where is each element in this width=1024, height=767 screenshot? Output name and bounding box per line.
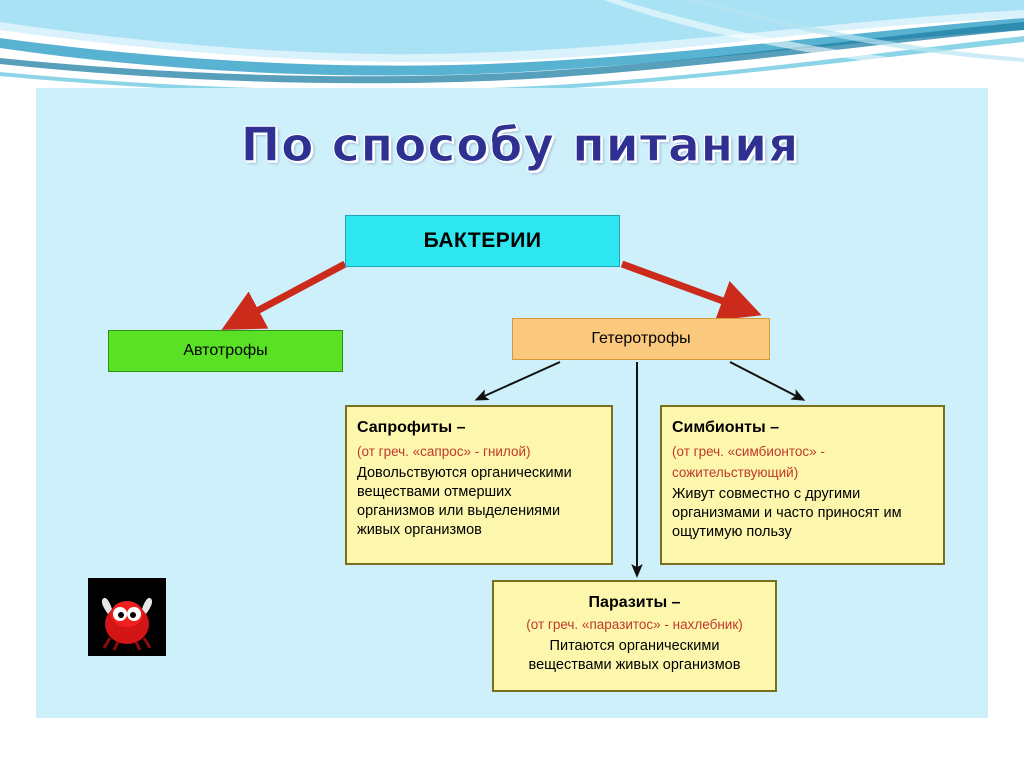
node-symbionts: Симбионты – (от греч. «симбионтос» - сож… xyxy=(660,405,945,565)
arrow-hetero-to-saprophytes xyxy=(480,362,560,398)
node-saprophytes-line-2: веществами отмерших xyxy=(357,483,601,502)
node-symbionts-line-1: Живут совместно с другими xyxy=(672,485,933,504)
node-autotrophs: Автотрофы xyxy=(108,330,343,372)
node-symbionts-greek: (от греч. «симбионтос» - xyxy=(672,443,933,461)
node-saprophytes: Сапрофиты – (от греч. «сапрос» - гнилой)… xyxy=(345,405,613,565)
node-saprophytes-line-1: Довольствуются органическими xyxy=(357,464,601,483)
node-symbionts-title: Симбионты – xyxy=(672,417,933,438)
node-saprophytes-greek: (от греч. «сапрос» - гнилой) xyxy=(357,443,601,461)
slide: По способу питания БАКТЕРИИ Автотрофы Ге… xyxy=(0,0,1024,767)
node-bakterii-label: БАКТЕРИИ xyxy=(424,229,542,253)
node-autotrophs-label: Автотрофы xyxy=(183,342,267,360)
node-symbionts-greek-2: сожительствующий) xyxy=(672,464,933,482)
node-heterotrophs-label: Гетеротрофы xyxy=(591,330,690,348)
arrow-hetero-to-symbionts xyxy=(730,362,800,398)
arrow-root-to-heterotrophs xyxy=(622,264,742,308)
node-bakterii: БАКТЕРИИ xyxy=(345,215,620,267)
node-symbionts-line-2: организмами и часто приносят им xyxy=(672,504,933,523)
node-saprophytes-title: Сапрофиты – xyxy=(357,417,601,438)
node-parasites-line-1: Питаются органическими xyxy=(504,637,765,656)
node-heterotrophs: Гетеротрофы xyxy=(512,318,770,360)
node-parasites-greek: (от греч. «паразитос» - нахлебник) xyxy=(504,616,765,634)
node-parasites: Паразиты – (от греч. «паразитос» - нахле… xyxy=(492,580,777,692)
node-saprophytes-line-3: организмов или выделениями xyxy=(357,502,601,521)
arrow-root-to-autotrophs xyxy=(240,264,345,320)
node-saprophytes-line-4: живых организмов xyxy=(357,521,601,540)
ladybug-image xyxy=(88,578,166,656)
node-parasites-title: Паразиты – xyxy=(504,592,765,613)
node-parasites-line-2: веществами живых организмов xyxy=(504,656,765,675)
ladybug-icon xyxy=(88,578,166,656)
node-symbionts-line-3: ощутимую пользу xyxy=(672,523,933,542)
